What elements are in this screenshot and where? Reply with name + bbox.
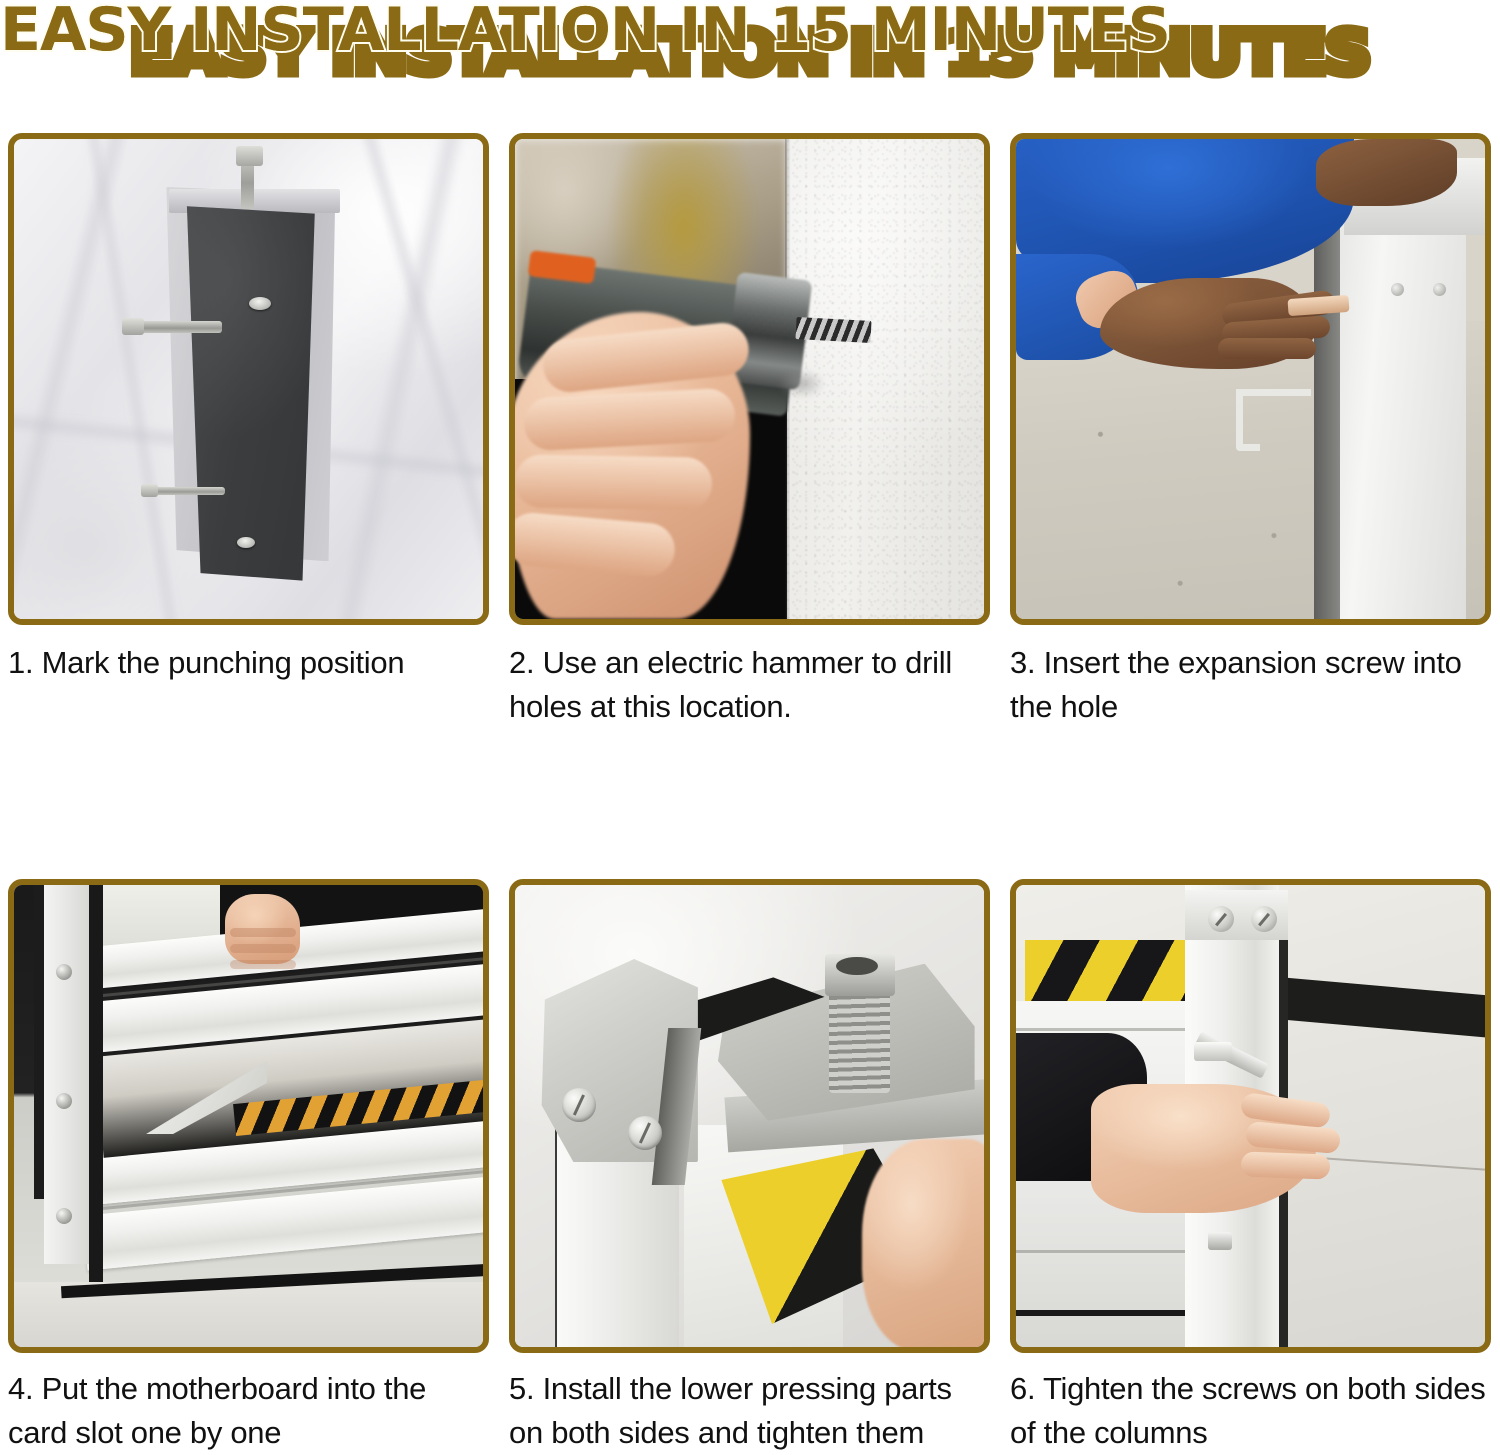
floor-area (1274, 1024, 1485, 1347)
side-bolt-lower-head (141, 484, 158, 497)
page-title: EASY INSTALLATION IN 15 MINUTES (0, 0, 1170, 60)
left-post (44, 885, 91, 1264)
drill-dust (778, 369, 825, 398)
step-image-frame-4 (8, 879, 489, 1353)
steps-row-top: 1. Mark the punching position (8, 133, 1492, 729)
installation-guide-page: EASY INSTALLATION IN 15 MINUTES EASY INS… (0, 0, 1500, 1403)
step-photo-5 (515, 885, 984, 1347)
screwdriver-tip (1194, 1042, 1232, 1060)
step-card-1: 1. Mark the punching position (8, 133, 489, 729)
step-card-3: 3. Insert the expansion screw into the h… (1010, 133, 1491, 729)
step-caption-2: 2. Use an electric hammer to drill holes… (509, 641, 990, 729)
step-caption-1: 1. Mark the punching position (8, 641, 489, 685)
steps-row-bottom: 4. Put the motherboard into the card slo… (8, 879, 1492, 1455)
step-image-frame-3 (1010, 133, 1491, 625)
top-bolt-head (236, 146, 263, 166)
worker-second-hand (1316, 139, 1457, 206)
step-card-6: 6. Tighten the screws on both sides of t… (1010, 879, 1491, 1455)
mounting-plate (183, 206, 319, 580)
side-bolt-upper-head (122, 318, 144, 335)
supporting-hand (862, 1139, 984, 1347)
step-photo-1 (14, 139, 483, 619)
drill-bit (796, 317, 872, 342)
step-photo-4 (14, 885, 483, 1347)
bracket-screw-left (562, 1088, 596, 1122)
bracket-screw-right (628, 1116, 662, 1150)
step-photo-3 (1016, 139, 1485, 619)
step-image-frame-6 (1010, 879, 1491, 1353)
column-shadow-edge (1314, 187, 1342, 619)
steps-grid: 1. Mark the punching position (8, 133, 1492, 1455)
step-caption-5: 5. Install the lower pressing parts on b… (509, 1367, 990, 1455)
step-image-frame-2 (509, 133, 990, 625)
post-screw-top (56, 964, 72, 980)
step-caption-4: 4. Put the motherboard into the card slo… (8, 1367, 489, 1455)
step-photo-2 (515, 139, 984, 619)
lower-column-screw (1208, 1232, 1231, 1250)
step-card-5: 5. Install the lower pressing parts on b… (509, 879, 990, 1455)
step-caption-6: 6. Tighten the screws on both sides of t… (1010, 1367, 1491, 1455)
step-card-4: 4. Put the motherboard into the card slo… (8, 879, 489, 1455)
allen-key (1236, 389, 1259, 451)
step-image-frame-1 (8, 133, 489, 625)
step-image-frame-5 (509, 879, 990, 1353)
hazard-marking (1025, 940, 1189, 1000)
step-caption-3: 3. Insert the expansion screw into the h… (1010, 641, 1491, 729)
installer-hand (225, 894, 300, 963)
column-head-screw-left (1208, 906, 1234, 932)
step-card-2: 2. Use an electric hammer to drill holes… (509, 133, 990, 729)
page-title-banner: EASY INSTALLATION IN 15 MINUTES EASY INS… (0, 0, 1500, 105)
column-head-screw-right (1251, 906, 1277, 932)
step-photo-6 (1016, 885, 1485, 1347)
